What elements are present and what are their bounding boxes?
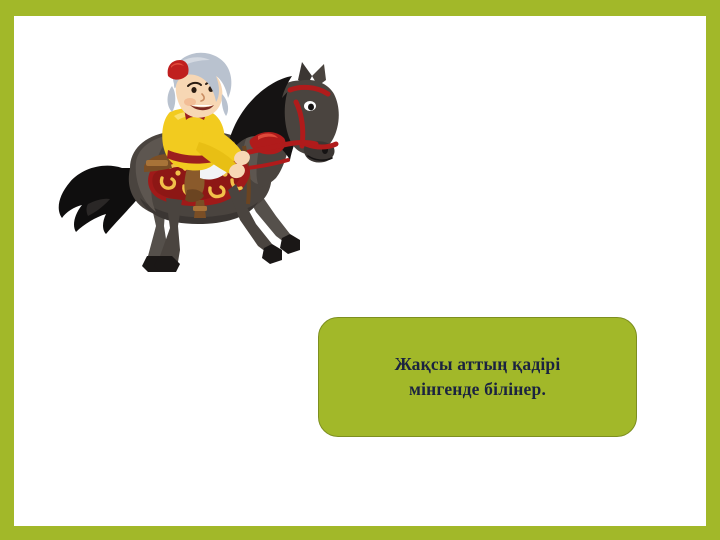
woman-riding-horse-illustration [44, 50, 349, 280]
slide-frame: Жақсы аттың қадірі мінгенде білінер. [0, 0, 720, 540]
proverb-text: Жақсы аттың қадірі мінгенде білінер. [381, 352, 575, 403]
slide-canvas: Жақсы аттың қадірі мінгенде білінер. [14, 16, 706, 526]
proverb-caption-box: Жақсы аттың қадірі мінгенде білінер. [318, 317, 637, 437]
